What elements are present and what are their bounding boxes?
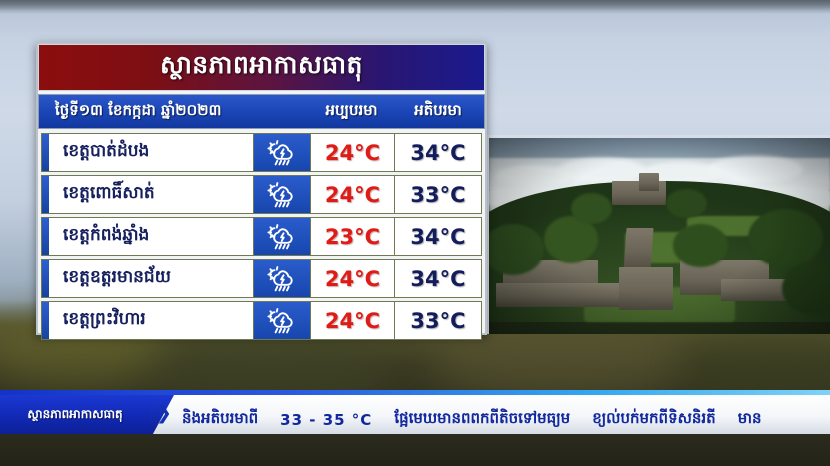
max-temperature: 33°C [395, 176, 481, 213]
background-top-vignette [0, 0, 830, 14]
table-row: ខេត្តឧត្តរមានជ័យ 24°C 34°C [41, 259, 482, 298]
page-title: ស្ថានភាពអាកាសធាតុ [160, 50, 363, 86]
news-ticker: និងអតិបរមាពី 33 - 35 °C ផ្អែមេឃមានពពកពីត… [0, 390, 830, 434]
ticker-category-label: ស្ថានភាពអាកាសធាតុ [0, 395, 150, 434]
province-name: ខេត្តពោធិ៍សាត់ [49, 176, 254, 213]
table-row: ខេត្តបាត់ដំបង 24°C 34°C [41, 133, 482, 172]
column-header-max: អតិបរមា [394, 101, 482, 123]
min-temperature: 24°C [311, 302, 395, 339]
ticker-temperature-range: 33 - 35 °C [280, 411, 372, 429]
column-header-min: អប្បបរមា [309, 101, 394, 123]
ticker-scrolling-text: និងអតិបរមាពី 33 - 35 °C ផ្អែមេឃមានពពកពីត… [182, 400, 762, 434]
photo-vignette [489, 138, 830, 334]
card-title-bar: ស្ថានភាពអាកាសធាតុ [38, 44, 485, 91]
thunderstorm-rain-icon [254, 218, 311, 255]
min-temperature: 24°C [311, 176, 395, 213]
min-temperature: 24°C [311, 260, 395, 297]
max-temperature: 34°C [395, 218, 481, 255]
table-header-row: ថ្ងៃទី១៣ ខែកក្កដា ឆ្នាំ២០២៣ អប្បបរមា អតិ… [38, 94, 485, 129]
thunderstorm-rain-icon [254, 302, 311, 339]
row-accent-bar [42, 302, 49, 339]
min-temperature: 24°C [311, 134, 395, 171]
date-label: ថ្ងៃទី១៣ ខែកក្កដា ឆ្នាំ២០២៣ [39, 101, 251, 123]
table-row: ខេត្តកំពង់ឆ្នាំង 23°C 34°C [41, 217, 482, 256]
province-name: ខេត្តឧត្តរមានជ័យ [49, 260, 254, 297]
row-accent-bar [42, 218, 49, 255]
ticker-segment-1: និងអតិបរមាពី [182, 409, 258, 431]
row-accent-bar [42, 260, 49, 297]
ticker-segment-3: ខ្យល់បក់មកពីទិសនិរតី [592, 409, 716, 431]
chevron-right-icon: ❯ [156, 404, 172, 423]
ticker-segment-4: មាន [738, 409, 762, 431]
broadcast-weather-screen: ស្ថានភាពអាកាសធាតុ ថ្ងៃទី១៣ ខែកក្កដា ឆ្នា… [0, 0, 830, 466]
province-name: ខេត្តព្រះវិហារ [49, 302, 254, 339]
thunderstorm-rain-icon [254, 134, 311, 171]
forecast-table-body: ខេត្តបាត់ដំបង 24°C 34°C ខេត្តពោធិ៍សាត់ [38, 129, 485, 343]
province-name: ខេត្តបាត់ដំបង [49, 134, 254, 171]
temple-photo-image [489, 138, 830, 334]
bottom-shade [0, 434, 830, 466]
row-accent-bar [42, 176, 49, 213]
thunderstorm-rain-icon [254, 176, 311, 213]
thunderstorm-rain-icon [254, 260, 311, 297]
province-name: ខេត្តកំពង់ឆ្នាំង [49, 218, 254, 255]
max-temperature: 33°C [395, 302, 481, 339]
max-temperature: 34°C [395, 134, 481, 171]
temple-photo [486, 135, 830, 334]
min-temperature: 23°C [311, 218, 395, 255]
max-temperature: 34°C [395, 260, 481, 297]
row-accent-bar [42, 134, 49, 171]
ticker-segment-2: ផ្អែមេឃមានពពកពីតិចទៅមធ្យម [394, 409, 570, 431]
table-row: ខេត្តពោធិ៍សាត់ 24°C 33°C [41, 175, 482, 214]
table-row: ខេត្តព្រះវិហារ 24°C 33°C [41, 301, 482, 340]
weather-forecast-card: ស្ថានភាពអាកាសធាតុ ថ្ងៃទី១៣ ខែកក្កដា ឆ្នា… [36, 42, 487, 335]
